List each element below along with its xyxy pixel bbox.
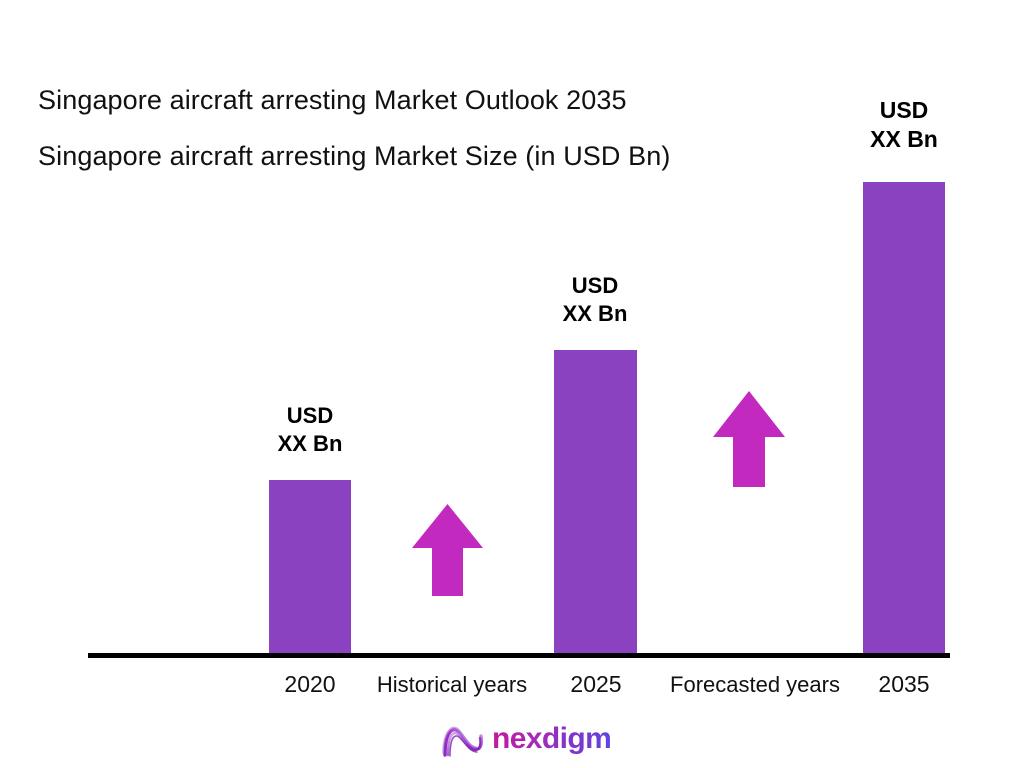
page-title: Singapore aircraft arresting Market Outl… [38, 72, 918, 128]
growth-arrow-forecast-icon [713, 391, 785, 487]
bar-value-label-2035-currency: USD [829, 96, 979, 125]
axis-baseline [88, 653, 950, 658]
nexdigm-wordmark: nexdigm [492, 724, 611, 756]
chart-title-block: Singapore aircraft arresting Market Outl… [38, 72, 918, 184]
bar-2020 [269, 480, 351, 655]
bar-value-label-2035: USD XX Bn [829, 96, 979, 155]
bar-value-label-2020-currency: USD [235, 402, 385, 430]
chart-canvas: Singapore aircraft arresting Market Outl… [0, 0, 1024, 768]
chart-subtitle: Singapore aircraft arresting Market Size… [38, 128, 918, 184]
nexdigm-logo: nexdigm [440, 718, 611, 762]
axis-label-2035: 2035 [844, 671, 964, 698]
nexdigm-mark-icon [440, 719, 484, 761]
bar-value-label-2025-amount: XX Bn [520, 300, 670, 328]
bar-value-label-2025-currency: USD [520, 272, 670, 300]
growth-arrow-historical-icon [412, 504, 483, 596]
bar-value-label-2020: USD XX Bn [235, 402, 385, 458]
bar-2025 [554, 350, 637, 655]
bar-value-label-2025: USD XX Bn [520, 272, 670, 328]
axis-label-forecasted-years: Forecasted years [650, 672, 860, 698]
axis-label-2025: 2025 [536, 671, 656, 698]
axis-label-historical-years: Historical years [352, 672, 552, 698]
bar-value-label-2035-amount: XX Bn [829, 125, 979, 154]
bar-2035 [863, 182, 945, 655]
bar-value-label-2020-amount: XX Bn [235, 430, 385, 458]
